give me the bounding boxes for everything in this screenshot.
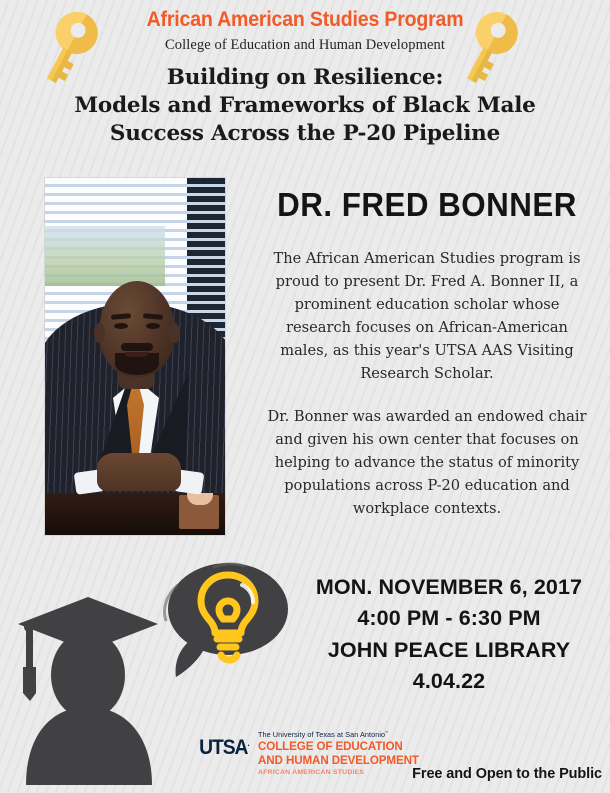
event-flyer: African American Studies Program College… — [0, 0, 610, 793]
college-name: College of Education and Human Developme… — [0, 37, 610, 54]
event-date: MON. NOVEMBER 6, 2017 — [288, 572, 610, 603]
window-scene — [45, 226, 165, 286]
title-line-1: Building on Resilience: — [0, 64, 610, 92]
utsa-wordmark: UTSA. — [199, 736, 248, 760]
mustache — [121, 343, 153, 351]
lightbulb-thought-bubble-icon — [152, 557, 292, 685]
speaker-bio: The African American Studies program is … — [252, 247, 602, 521]
bio-paragraph-2: Dr. Bonner was awarded an endowed chair … — [266, 405, 588, 520]
event-details: MON. NOVEMBER 6, 2017 4:00 PM - 6:30 PM … — [288, 572, 610, 698]
utsa-logo: UTSA. The University of Texas at San Ant… — [197, 730, 447, 780]
speaker-name: DR. FRED BONNER — [261, 188, 594, 221]
event-time: 4:00 PM - 6:30 PM — [288, 603, 610, 634]
mouth — [125, 352, 149, 357]
college-line-1: COLLEGE OF EDUCATION — [258, 740, 458, 753]
university-name: The University of Texas at San Antonio˝ — [258, 730, 458, 739]
title-line-2: Models and Frameworks of Black Male — [0, 92, 610, 120]
title-line-3: Success Across the P-20 Pipeline — [0, 120, 610, 148]
eye-right — [146, 323, 160, 329]
utsa-registered-mark: . — [247, 738, 248, 748]
eye-left — [114, 323, 128, 329]
ear-right — [169, 323, 180, 343]
event-room: 4.04.22 — [288, 666, 610, 697]
page-title: Building on Resilience: Models and Frame… — [0, 64, 610, 148]
admission-notice: Free and Open to the Public — [412, 766, 602, 782]
program-name: African American Studies Program — [21, 9, 588, 31]
bio-paragraph-1: The African American Studies program is … — [266, 247, 588, 385]
event-location: JOHN PEACE LIBRARY — [288, 635, 610, 666]
utsa-letters: UTSA — [199, 736, 247, 759]
ear-left — [94, 323, 105, 343]
speaker-portrait — [45, 178, 225, 535]
folded-hands — [97, 453, 181, 491]
speaker-info-column: DR. FRED BONNER The African American Stu… — [252, 188, 602, 521]
flyer-header: African American Studies Program College… — [0, 0, 610, 148]
